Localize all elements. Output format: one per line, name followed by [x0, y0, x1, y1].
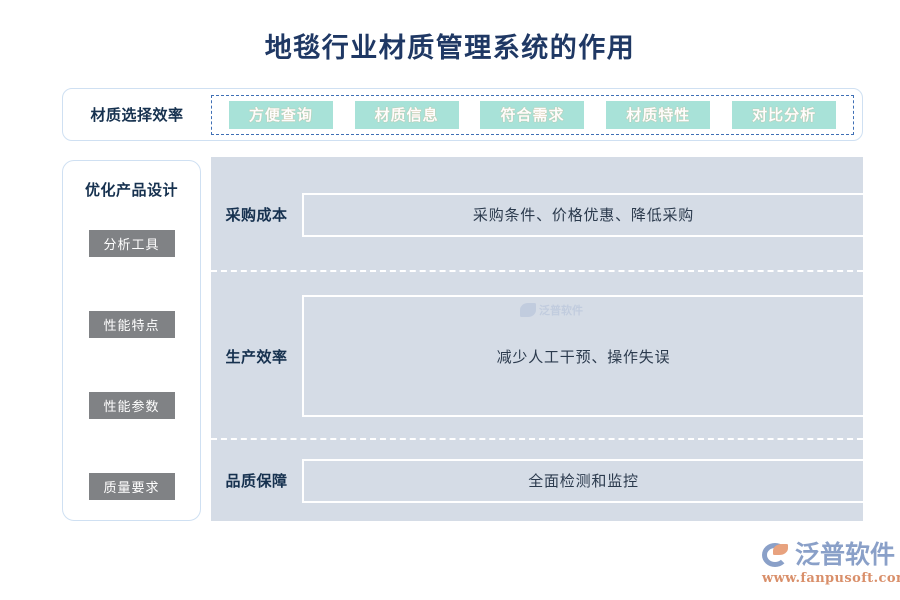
- sidebar-item-performance-parameters[interactable]: 性能参数: [89, 392, 175, 419]
- tag-chip-comparative-analysis[interactable]: 对比分析: [732, 101, 836, 129]
- page-title: 地毯行业材质管理系统的作用: [0, 26, 900, 65]
- row-content-procurement-cost: 采购条件、价格优惠、降低采购: [302, 193, 863, 237]
- row-label-production-efficiency: 生产效率: [211, 346, 302, 367]
- table-row: 生产效率 减少人工干预、操作失误: [211, 272, 863, 440]
- row-content-production-efficiency: 减少人工干预、操作失误: [302, 295, 863, 417]
- top-band-label: 材质选择效率: [63, 104, 211, 125]
- sidebar-item-performance-features[interactable]: 性能特点: [89, 311, 175, 338]
- sidebar-item-analysis-tools[interactable]: 分析工具: [89, 230, 175, 257]
- optimize-product-design-card: 优化产品设计 分析工具 性能特点 性能参数 质量要求: [62, 160, 201, 521]
- table-row: 品质保障 全面检测和监控: [211, 440, 863, 521]
- sidebar-item-quality-requirements[interactable]: 质量要求: [89, 473, 175, 500]
- main-panel: 采购成本 采购条件、价格优惠、降低采购 生产效率 减少人工干预、操作失误 品质保…: [211, 157, 863, 521]
- tag-chip-material-info[interactable]: 材质信息: [355, 101, 459, 129]
- brand-url: www.fanpusoft.com: [762, 571, 894, 586]
- material-selection-efficiency-card: 材质选择效率 方便查询 材质信息 符合需求 材质特性 对比分析: [62, 88, 863, 141]
- sidebar-button-list: 分析工具 性能特点 性能参数 质量要求: [63, 230, 200, 520]
- table-row: 采购成本 采购条件、价格优惠、降低采购: [211, 157, 863, 272]
- tag-chip-meet-requirements[interactable]: 符合需求: [480, 101, 584, 129]
- tag-chip-material-properties[interactable]: 材质特性: [606, 101, 710, 129]
- fanpu-logo-icon: [762, 541, 792, 569]
- brand-name: 泛普软件: [795, 541, 895, 569]
- tag-strip: 方便查询 材质信息 符合需求 材质特性 对比分析: [211, 95, 854, 135]
- tag-chip-convenient-query[interactable]: 方便查询: [229, 101, 333, 129]
- row-content-quality-assurance: 全面检测和监控: [302, 459, 863, 503]
- brand-logo: 泛普软件 www.fanpusoft.com: [762, 540, 894, 592]
- row-label-procurement-cost: 采购成本: [211, 204, 302, 225]
- sidebar-title: 优化产品设计: [85, 179, 178, 200]
- row-label-quality-assurance: 品质保障: [211, 470, 302, 491]
- brand-row: 泛普软件: [762, 540, 894, 570]
